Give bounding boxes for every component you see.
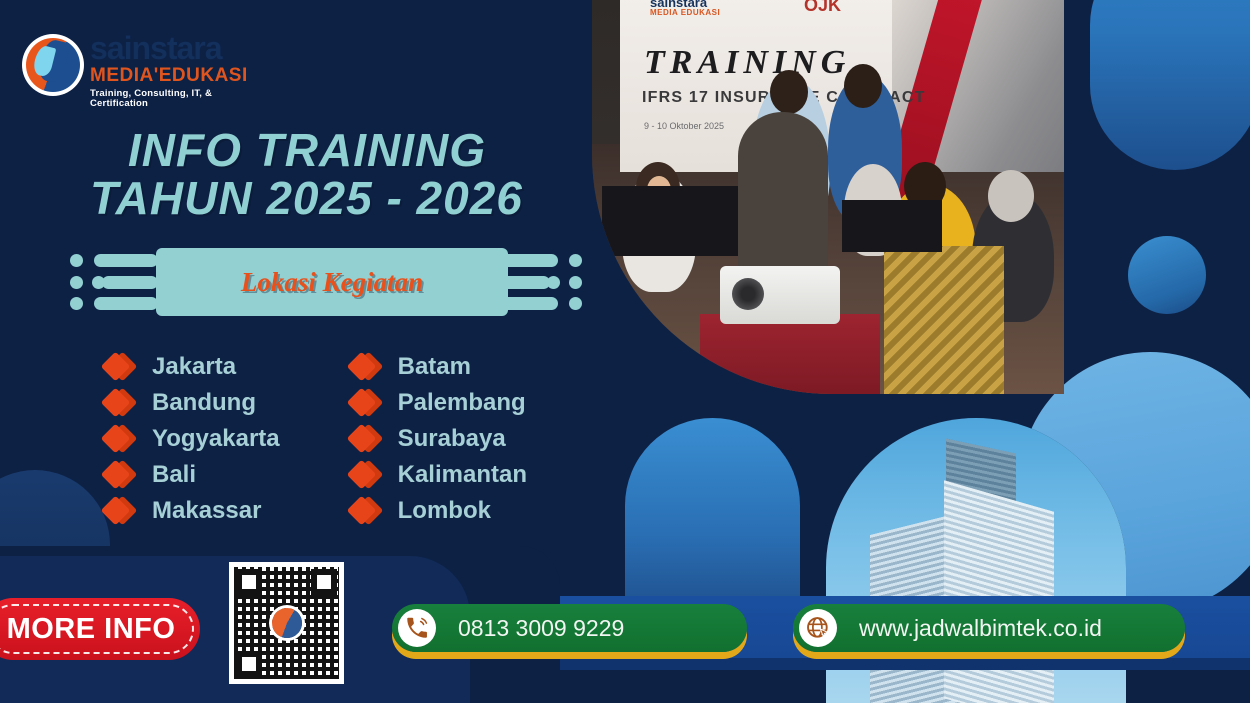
promo-banner: sainstara MEDIA EDUKASI OJK TRAINING IFR… (0, 0, 1250, 703)
city-name: Kalimantan (398, 463, 527, 487)
diamond-bullet-icon (98, 391, 140, 415)
projector (720, 266, 840, 324)
logo-mark-icon (22, 34, 84, 96)
city-list: Jakarta Bandung Yogyakarta Bali Makassar (98, 352, 568, 525)
phone-number: 0813 3009 9229 (458, 617, 624, 640)
table-center (842, 200, 942, 252)
decorative-arch-top-right (1090, 0, 1250, 170)
list-item[interactable]: Lombok (344, 496, 527, 525)
page-title: INFO TRAINING TAHUN 2025 - 2026 (90, 128, 600, 220)
list-item[interactable]: Palembang (344, 388, 527, 417)
table-left (602, 186, 742, 256)
qr-eye-top-left (236, 569, 262, 595)
backdrop-date: 9 - 10 Oktober 2025 (644, 122, 724, 131)
more-info-button[interactable]: MORE INFO (0, 598, 200, 660)
qr-code[interactable] (229, 562, 344, 684)
headline-line-2: TAHUN 2025 - 2026 (90, 176, 600, 220)
website-contact-pill[interactable]: www.jadwalbimtek.co.id (793, 604, 1185, 652)
company-logo: sainstara MEDIA'EDUKASI Training, Consul… (22, 28, 272, 106)
logo-tagline: Training, Consulting, IT, & Certificatio… (90, 89, 272, 108)
banner-decor-right (494, 248, 584, 316)
list-item[interactable]: Bali (98, 460, 280, 489)
more-info-label: MORE INFO (7, 615, 176, 644)
table-red-cloth (700, 314, 880, 394)
city-name: Bandung (152, 391, 256, 415)
person-head-2 (844, 64, 882, 108)
city-name: Yogyakarta (152, 427, 280, 451)
diamond-bullet-icon (98, 427, 140, 451)
backdrop-ojk-logo: OJK (804, 0, 841, 14)
list-item[interactable]: Makassar (98, 496, 280, 525)
website-url: www.jadwalbimtek.co.id (859, 617, 1102, 640)
list-item[interactable]: Surabaya (344, 424, 527, 453)
phone-call-icon (398, 609, 436, 647)
section-banner: Lokasi Kegiatan (78, 248, 584, 316)
list-item[interactable]: Batam (344, 352, 527, 381)
phone-contact-pill[interactable]: 0813 3009 9229 (392, 604, 747, 652)
qr-eye-bottom-left (236, 651, 262, 677)
city-name: Makassar (152, 499, 261, 523)
qr-center-logo-icon (272, 608, 302, 638)
city-name: Surabaya (398, 427, 506, 451)
section-banner-label: Lokasi Kegiatan (156, 248, 508, 316)
diamond-bullet-icon (98, 355, 140, 379)
diamond-bullet-icon (344, 427, 386, 451)
list-item[interactable]: Jakarta (98, 352, 280, 381)
globe-cursor-icon (799, 609, 837, 647)
list-item[interactable]: Bandung (98, 388, 280, 417)
training-room-photo: sainstara MEDIA EDUKASI OJK TRAINING IFR… (592, 0, 1064, 394)
person-head-hijab-2 (988, 170, 1034, 222)
person-head-1 (770, 70, 808, 114)
decorative-circle-right (1128, 236, 1206, 314)
diamond-bullet-icon (344, 391, 386, 415)
backdrop-title: TRAINING (644, 46, 850, 80)
city-name: Palembang (398, 391, 526, 415)
list-item[interactable]: Yogyakarta (98, 424, 280, 453)
qr-eye-top-right (311, 569, 337, 595)
city-name: Batam (398, 355, 471, 379)
headline-line-1: INFO TRAINING (128, 128, 600, 172)
backdrop-logo: sainstara MEDIA EDUKASI (650, 0, 720, 17)
city-name: Bali (152, 463, 196, 487)
city-column-left: Jakarta Bandung Yogyakarta Bali Makassar (98, 352, 280, 525)
logo-name: sainstara (90, 32, 272, 64)
diamond-bullet-icon (98, 499, 140, 523)
city-name: Jakarta (152, 355, 236, 379)
diamond-bullet-icon (98, 463, 140, 487)
list-item[interactable]: Kalimantan (344, 460, 527, 489)
diamond-bullet-icon (344, 463, 386, 487)
logo-subtitle: MEDIA'EDUKASI (90, 66, 272, 85)
diamond-bullet-icon (344, 499, 386, 523)
table-gold-cloth (884, 246, 1004, 394)
city-column-right: Batam Palembang Surabaya Kalimantan Lomb… (344, 352, 527, 525)
diamond-bullet-icon (344, 355, 386, 379)
city-name: Lombok (398, 499, 491, 523)
banner-decor-left (68, 248, 158, 316)
